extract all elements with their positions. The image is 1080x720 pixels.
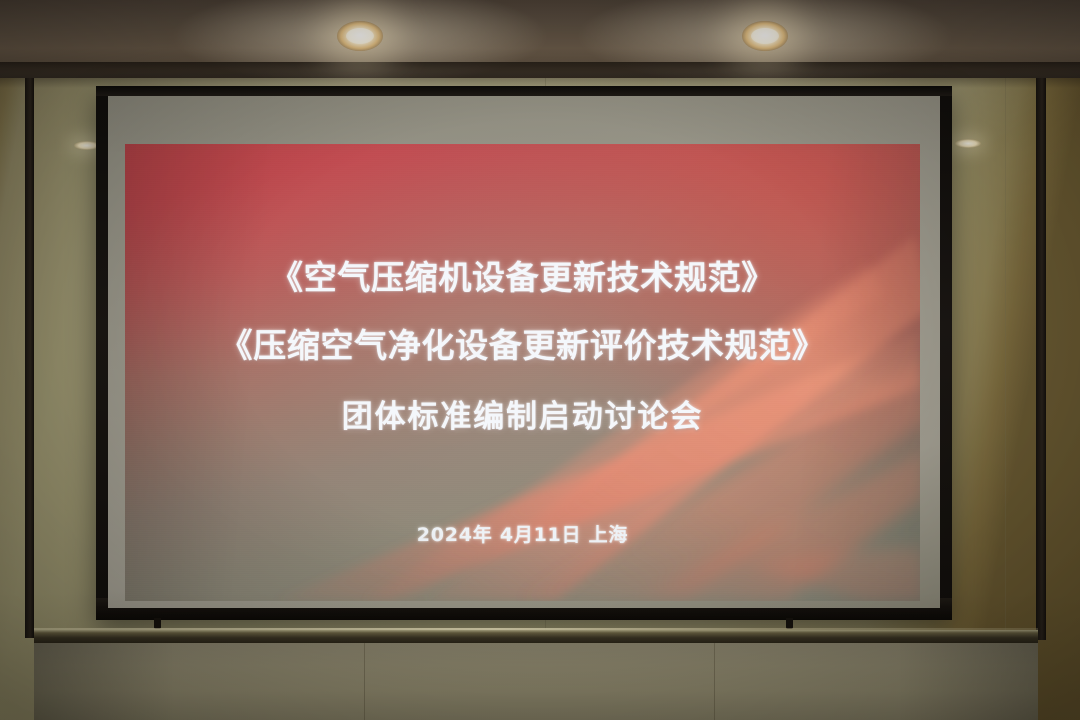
slide-grain <box>125 144 920 601</box>
wall-accent-lamp-right <box>955 139 981 148</box>
lower-wall-panel <box>34 643 1038 720</box>
slide-ribbon-graphics <box>125 144 920 601</box>
projected-slide: 《空气压缩机设备更新技术规范》 《压缩空气净化设备更新评价技术规范》 团体标准编… <box>125 144 920 601</box>
downlight-core <box>751 28 779 44</box>
slide-title-line-2: 《压缩空气净化设备更新评价技术规范》 <box>220 319 826 367</box>
screen-frame-top-bar <box>96 86 952 96</box>
ribbon-svg <box>125 144 920 601</box>
wall-trim-right <box>1036 78 1046 640</box>
slide-title-line-1: 《空气压缩机设备更新技术规范》 <box>270 251 775 299</box>
wall-seam <box>1005 78 1006 630</box>
ceiling-downlight-right <box>742 21 788 51</box>
wall-trim-left <box>25 78 34 638</box>
slide-projector-sheen <box>125 144 920 601</box>
conference-room-scene: 《空气压缩机设备更新技术规范》 《压缩空气净化设备更新评价技术规范》 团体标准编… <box>0 0 1080 720</box>
wall-ledge <box>34 630 1038 643</box>
slide-warm-gradient <box>125 144 920 601</box>
slide-date-location: 2024年 4月11日 上海 <box>417 520 628 547</box>
ceiling-shadow-band <box>0 62 1080 88</box>
slide-title-line-3: 团体标准编制启动讨论会 <box>342 391 703 436</box>
ceiling-downlight-left <box>337 21 383 51</box>
lower-wall-shading <box>34 643 1038 720</box>
downlight-core <box>346 28 374 44</box>
slide-text-block: 《空气压缩机设备更新技术规范》 《压缩空气净化设备更新评价技术规范》 团体标准编… <box>125 144 920 601</box>
